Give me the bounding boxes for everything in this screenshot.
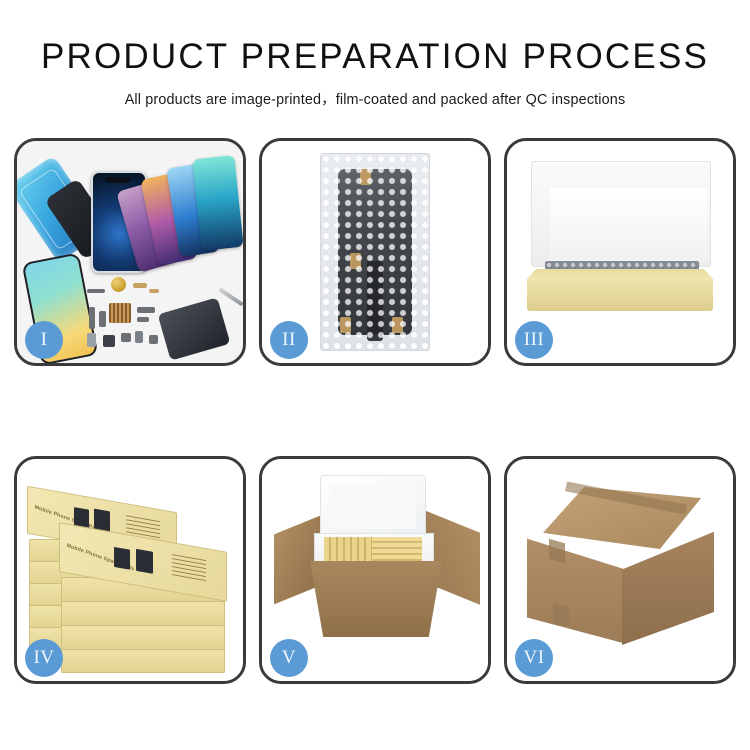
box-base-icon bbox=[527, 279, 713, 311]
box-side-icon bbox=[61, 601, 225, 627]
tape-icon bbox=[350, 253, 361, 269]
step-panel-4[interactable]: Mobile Phone Spare Parts Mobile Phone Sp… bbox=[14, 456, 246, 684]
product-preparation-infographic: PRODUCT PREPARATION PROCESS All products… bbox=[0, 0, 750, 750]
step-panel-6[interactable]: VI bbox=[504, 456, 736, 684]
tape-icon bbox=[340, 317, 351, 333]
box-spec-lines bbox=[172, 553, 206, 581]
header: PRODUCT PREPARATION PROCESS All products… bbox=[0, 0, 750, 109]
part-icon bbox=[137, 307, 155, 313]
phone-teal-icon bbox=[192, 155, 243, 251]
tape-icon bbox=[360, 169, 371, 185]
open-carton-icon bbox=[280, 475, 472, 655]
step-panel-3[interactable]: III bbox=[504, 138, 736, 366]
part-icon bbox=[149, 335, 158, 344]
part-icon bbox=[133, 283, 147, 288]
part-icon bbox=[99, 311, 106, 327]
tape-icon bbox=[392, 317, 403, 333]
box-side-icon bbox=[61, 649, 225, 673]
step-panel-5[interactable]: V bbox=[259, 456, 491, 684]
foam-sheet-icon bbox=[550, 188, 708, 262]
foam-lid-icon bbox=[320, 475, 426, 539]
box-art-phone-icon bbox=[136, 549, 153, 574]
carton-tape-icon bbox=[549, 539, 565, 564]
step-panel-2[interactable]: II bbox=[259, 138, 491, 366]
box-side-icon bbox=[61, 625, 225, 651]
carton-body-icon bbox=[310, 561, 442, 637]
part-icon bbox=[103, 335, 115, 347]
part-icon bbox=[87, 333, 96, 347]
flex-cable-icon bbox=[367, 261, 383, 341]
page-title: PRODUCT PREPARATION PROCESS bbox=[0, 38, 750, 77]
carton-tape-icon bbox=[553, 603, 569, 628]
step-badge-3: III bbox=[515, 321, 553, 359]
part-icon bbox=[87, 289, 105, 293]
tweezers-icon bbox=[218, 288, 243, 307]
part-icon bbox=[137, 317, 149, 322]
step-badge-6: VI bbox=[515, 639, 553, 677]
page-subtitle: All products are image-printed，film-coat… bbox=[0, 88, 750, 109]
spare-parts-cluster bbox=[87, 277, 237, 361]
step-badge-5: V bbox=[270, 639, 308, 677]
part-icon bbox=[149, 289, 159, 293]
stacked-boxes-group: Mobile Phone Spare Parts Mobile Phone Sp… bbox=[25, 481, 235, 665]
step-badge-4: IV bbox=[25, 639, 63, 677]
process-steps-grid: I II bbox=[14, 138, 736, 684]
part-icon bbox=[121, 333, 131, 342]
box-lid-icon bbox=[531, 161, 711, 267]
part-icon bbox=[89, 307, 95, 329]
carton-left-face bbox=[527, 527, 623, 643]
chip-grid-icon bbox=[109, 303, 131, 323]
step-panel-1[interactable]: I bbox=[14, 138, 246, 366]
speaker-coil-icon bbox=[111, 277, 126, 292]
step-badge-1: I bbox=[25, 321, 63, 359]
step-badge-2: II bbox=[270, 321, 308, 359]
sealed-carton-icon bbox=[527, 487, 717, 653]
phone-lineup-group bbox=[125, 155, 243, 271]
phone-chassis-icon bbox=[158, 297, 231, 360]
open-flat-box-icon bbox=[523, 161, 717, 321]
box-art-phone-icon bbox=[114, 547, 130, 570]
part-icon bbox=[135, 331, 143, 343]
